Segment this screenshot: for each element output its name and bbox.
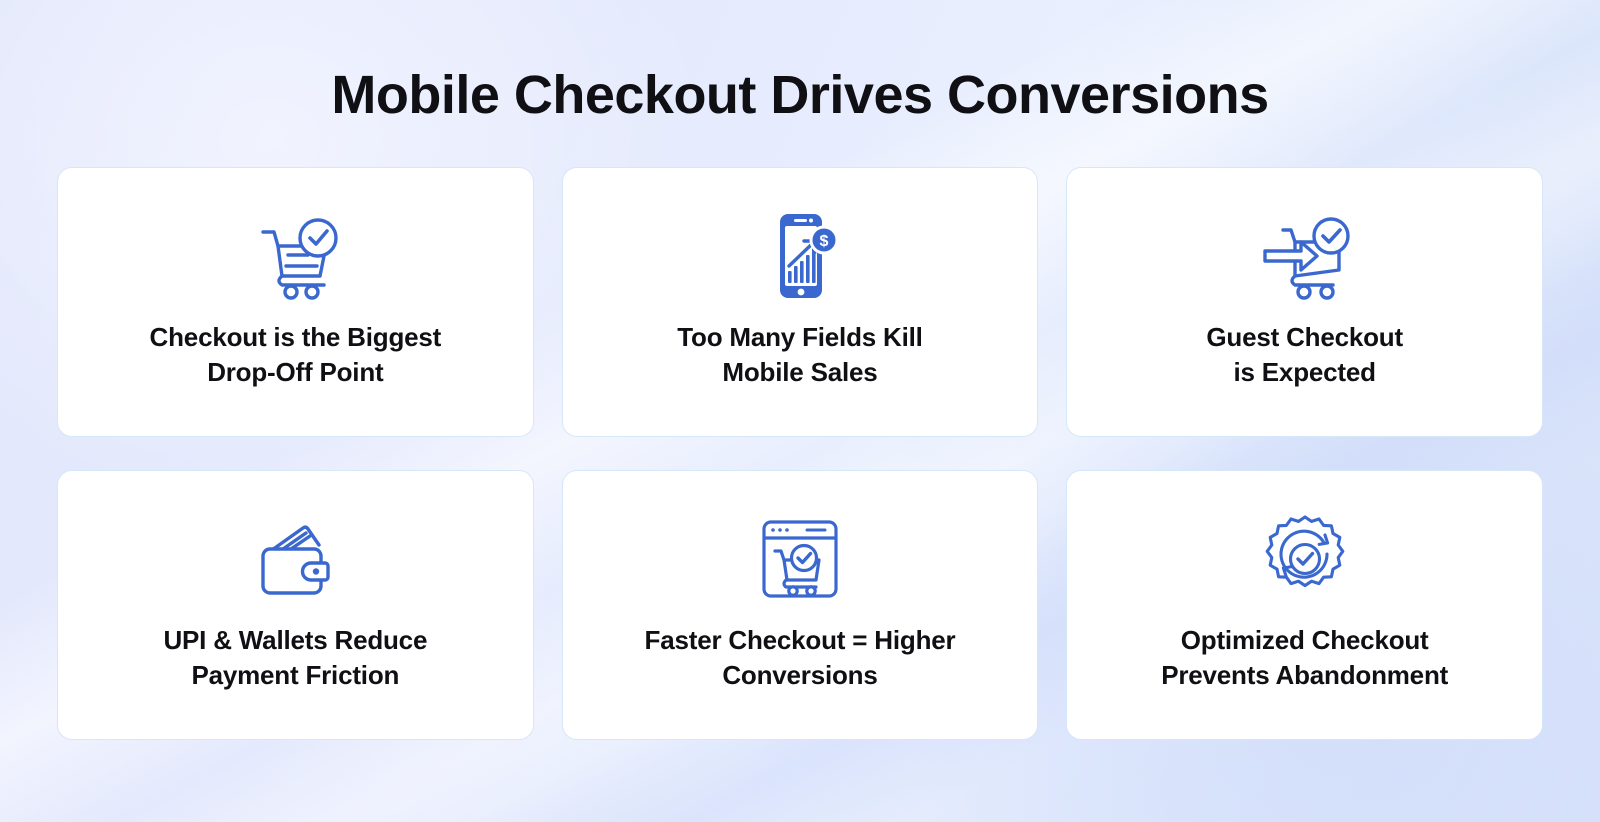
browser-cart-check-icon [754, 513, 846, 605]
svg-text:$: $ [820, 233, 829, 250]
infographic-poster: Mobile Checkout Drives Conversions [0, 0, 1600, 822]
poster-content: Mobile Checkout Drives Conversions [0, 0, 1600, 822]
feature-card[interactable]: Guest Checkout is Expected [1066, 167, 1543, 437]
feature-card-title: Guest Checkout is Expected [1206, 320, 1403, 389]
feature-card[interactable]: Checkout is the Biggest Drop-Off Point [57, 167, 534, 437]
feature-card-title: UPI & Wallets Reduce Payment Friction [163, 623, 427, 692]
feature-card[interactable]: Optimized Checkout Prevents Abandonment [1066, 470, 1543, 740]
cart-check-icon [247, 210, 343, 302]
feature-card-title: Optimized Checkout Prevents Abandonment [1161, 623, 1448, 692]
feature-card[interactable]: Faster Checkout = Higher Conversions [562, 470, 1039, 740]
feature-card-grid: Checkout is the Biggest Drop-Off Point [57, 167, 1543, 740]
feature-card[interactable]: $ Too Many Fields Kill Mobile Sales [562, 167, 1039, 437]
wallet-icon [247, 513, 343, 605]
gear-check-optimize-icon [1259, 513, 1351, 605]
feature-card[interactable]: UPI & Wallets Reduce Payment Friction [57, 470, 534, 740]
feature-card-title: Faster Checkout = Higher Conversions [645, 623, 956, 692]
feature-card-title: Too Many Fields Kill Mobile Sales [677, 320, 922, 389]
mobile-chart-dollar-icon: $ [752, 210, 848, 302]
page-title: Mobile Checkout Drives Conversions [57, 0, 1543, 128]
feature-card-title: Checkout is the Biggest Drop-Off Point [150, 320, 442, 389]
guest-cart-arrow-check-icon [1253, 210, 1357, 302]
